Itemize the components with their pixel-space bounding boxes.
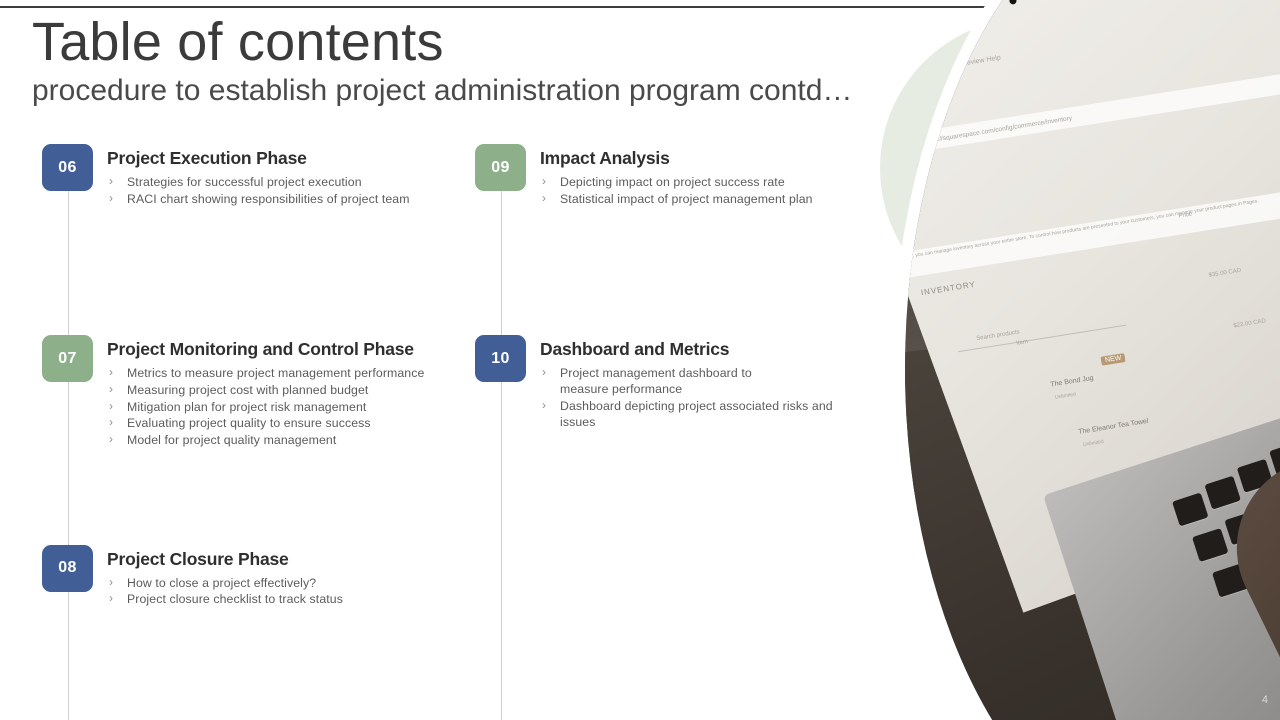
toc-badge-07: 07	[42, 335, 93, 382]
list-item-label: Project management dashboard to measure …	[560, 366, 752, 396]
list-item: ›Project closure checklist to track stat…	[107, 591, 343, 607]
toc-left-column: 06 Project Execution Phase ›Strategies f…	[42, 144, 462, 608]
list-item-label: How to close a project effectively?	[127, 576, 316, 590]
toc-entry-title-09: Impact Analysis	[540, 148, 813, 170]
toc-bullets-06: ›Strategies for successful project execu…	[107, 174, 410, 207]
toc-entry-07[interactable]: 07 Project Monitoring and Control Phase …	[42, 335, 462, 448]
list-item-label: Measuring project cost with planned budg…	[127, 383, 368, 397]
toc-bullets-09: ›Depicting impact on project success rat…	[540, 174, 813, 207]
screen-col-item: Item	[1016, 339, 1028, 347]
chevron-right-icon: ›	[542, 173, 546, 189]
screen-menu-items: Media Review Help	[941, 54, 1002, 70]
list-item: ›RACI chart showing responsibilities of …	[107, 191, 410, 207]
list-item: ›Statistical impact of project managemen…	[540, 191, 813, 207]
laptop-photo: Media Review Help https://squarespace.co…	[905, 0, 1280, 720]
list-item-label: Model for project quality management	[127, 433, 336, 447]
list-item: ›Evaluating project quality to ensure su…	[107, 415, 424, 431]
toc-bullets-08: ›How to close a project effectively? ›Pr…	[107, 575, 343, 608]
list-item-label: Evaluating project quality to ensure suc…	[127, 416, 371, 430]
list-item: ›Project management dashboard to measure…	[540, 365, 790, 397]
chevron-right-icon: ›	[542, 397, 546, 413]
toc-badge-10: 10	[475, 335, 526, 382]
chevron-right-icon: ›	[109, 398, 113, 414]
chevron-right-icon: ›	[109, 431, 113, 447]
chevron-right-icon: ›	[109, 381, 113, 397]
screen-row-1-price: $35.00 CAD	[1208, 268, 1241, 279]
list-item: ›Metrics to measure project management p…	[107, 365, 424, 381]
screen-section-heading: INVENTORY	[920, 280, 976, 298]
toc-entry-body-10: Dashboard and Metrics ›Project managemen…	[540, 335, 840, 431]
list-item: ›Measuring project cost with planned bud…	[107, 382, 424, 398]
screen-row-1-variant: Unlimited	[1055, 392, 1077, 401]
list-item: ›Dashboard depicting project associated …	[540, 398, 840, 430]
chevron-right-icon: ›	[109, 574, 113, 590]
laptop-photo-inner: Media Review Help https://squarespace.co…	[905, 0, 1280, 720]
page-title: Table of contents	[32, 12, 852, 72]
list-item-label: Depicting impact on project success rate	[560, 175, 785, 189]
screen-row-1-name: The Bond Jug	[1050, 375, 1094, 389]
list-item: ›Depicting impact on project success rat…	[540, 174, 813, 190]
list-item-label: RACI chart showing responsibilities of p…	[127, 192, 410, 206]
chevron-right-icon: ›	[542, 364, 546, 380]
toc-badge-06: 06	[42, 144, 93, 191]
toc-badge-08: 08	[42, 545, 93, 592]
screen-content-band	[905, 165, 1280, 278]
list-item: ›How to close a project effectively?	[107, 575, 343, 591]
screen-search-placeholder: Search products	[976, 329, 1020, 342]
toc-bullets-07: ›Metrics to measure project management p…	[107, 365, 424, 448]
screen-row-2-variant: Unlimited	[1083, 439, 1105, 448]
toc-entry-body-06: Project Execution Phase ›Strategies for …	[107, 144, 410, 207]
toc-entry-09[interactable]: 09 Impact Analysis ›Depicting impact on …	[475, 144, 875, 207]
list-item: ›Model for project quality management	[107, 432, 424, 448]
list-item-label: Statistical impact of project management…	[560, 192, 813, 206]
list-item: ›Mitigation plan for project risk manage…	[107, 399, 424, 415]
toc-entry-title-06: Project Execution Phase	[107, 148, 410, 170]
chevron-right-icon: ›	[109, 190, 113, 206]
toc-entry-title-08: Project Closure Phase	[107, 549, 343, 571]
toc-entry-08[interactable]: 08 Project Closure Phase ›How to close a…	[42, 545, 462, 608]
slide-header: Table of contents procedure to establish…	[32, 12, 852, 109]
screen-toolbar-band	[908, 66, 1280, 153]
slide-canvas: Media Review Help https://squarespace.co…	[0, 0, 1280, 720]
screen-row-2-price: $22.00 CAD	[1233, 318, 1266, 329]
chevron-right-icon: ›	[109, 414, 113, 430]
list-item-label: Project closure checklist to track statu…	[127, 592, 343, 606]
chevron-right-icon: ›	[109, 364, 113, 380]
list-item-label: Strategies for successful project execut…	[127, 175, 362, 189]
screen-row-2-name: The Eleanor Tea Towel	[1078, 418, 1149, 436]
toc-entry-06[interactable]: 06 Project Execution Phase ›Strategies f…	[42, 144, 462, 207]
toc-bullets-10: ›Project management dashboard to measure…	[540, 365, 840, 430]
list-item-label: Dashboard depicting project associated r…	[560, 399, 833, 429]
chevron-right-icon: ›	[109, 173, 113, 189]
page-number: 4	[1262, 694, 1268, 706]
toc-entry-title-10: Dashboard and Metrics	[540, 339, 840, 361]
toc-entry-body-07: Project Monitoring and Control Phase ›Me…	[107, 335, 424, 448]
chevron-right-icon: ›	[109, 590, 113, 606]
toc-entry-body-09: Impact Analysis ›Depicting impact on pro…	[540, 144, 813, 207]
toc-entry-title-07: Project Monitoring and Control Phase	[107, 339, 424, 361]
toc-right-column: 09 Impact Analysis ›Depicting impact on …	[475, 144, 875, 431]
chevron-right-icon: ›	[542, 190, 546, 206]
list-item: ›Strategies for successful project execu…	[107, 174, 410, 190]
toc-entry-10[interactable]: 10 Dashboard and Metrics ›Project manage…	[475, 335, 875, 431]
webcam-icon	[1008, 0, 1017, 5]
list-item-label: Metrics to measure project management pe…	[127, 366, 424, 380]
screen-row-1-tag: NEW	[1101, 353, 1126, 366]
toc-badge-09: 09	[475, 144, 526, 191]
toc-entry-body-08: Project Closure Phase ›How to close a pr…	[107, 545, 343, 608]
page-subtitle: procedure to establish project administr…	[32, 74, 852, 109]
list-item-label: Mitigation plan for project risk managem…	[127, 400, 366, 414]
